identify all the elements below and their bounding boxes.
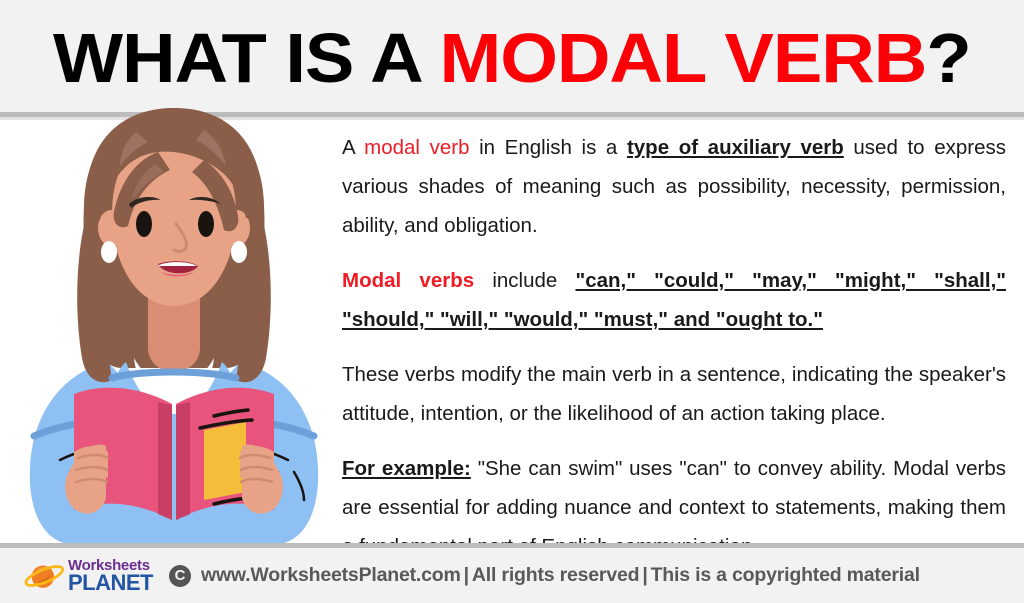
p1-text-2: in English is a — [469, 136, 626, 159]
footer-credit-line: www.WorksheetsPlanet.com|All rights rese… — [201, 564, 920, 587]
paragraph-modal-list: Modal verbs include "can," "could," "may… — [342, 261, 1006, 339]
worksheets-planet-logo[interactable]: Worksheets PLANET — [24, 558, 153, 594]
footer-separator-2: | — [639, 564, 650, 586]
p4-underline-for-example: For example: — [342, 457, 471, 480]
page-footer: Worksheets PLANET C www.WorksheetsPlanet… — [0, 548, 1024, 603]
main-content: A modal verb in English is a type of aux… — [0, 120, 1024, 543]
footer-rights-text: All rights reserved — [472, 564, 639, 586]
p2-highlight-modal-verbs: Modal verbs — [342, 269, 474, 292]
copyright-icon: C — [169, 565, 191, 587]
p3-text-1: These verbs modify the main verb in a se… — [342, 363, 1006, 425]
logo-planet-text: PLANET — [68, 572, 153, 594]
page-header: WHAT IS A MODAL VERB? — [0, 0, 1024, 112]
paragraph-function: These verbs modify the main verb in a se… — [342, 355, 1006, 433]
footer-separator-1: | — [461, 564, 472, 586]
logo-wordmark: Worksheets PLANET — [68, 558, 153, 594]
paragraph-definition: A modal verb in English is a type of aux… — [342, 128, 1006, 245]
title-question-mark: ? — [927, 19, 971, 97]
title-text-black: WHAT IS A — [53, 19, 439, 97]
p1-underline-auxiliary: type of auxiliary verb — [627, 136, 844, 159]
p2-text-1: include — [474, 269, 575, 292]
page-title: WHAT IS A MODAL VERB? — [53, 18, 971, 94]
definition-text-column: A modal verb in English is a type of aux… — [342, 128, 1006, 566]
worksheet-page: WHAT IS A MODAL VERB? — [0, 0, 1024, 603]
footer-website-url[interactable]: www.WorksheetsPlanet.com — [201, 564, 461, 586]
title-text-red: MODAL VERB — [440, 19, 927, 97]
p1-highlight-modal-verb: modal verb — [364, 136, 469, 159]
woman-reading-illustration — [8, 100, 338, 545]
planet-icon — [24, 559, 66, 593]
p1-text-1: A — [342, 136, 364, 159]
footer-copyright-notice: This is a copyrighted material — [651, 564, 920, 586]
